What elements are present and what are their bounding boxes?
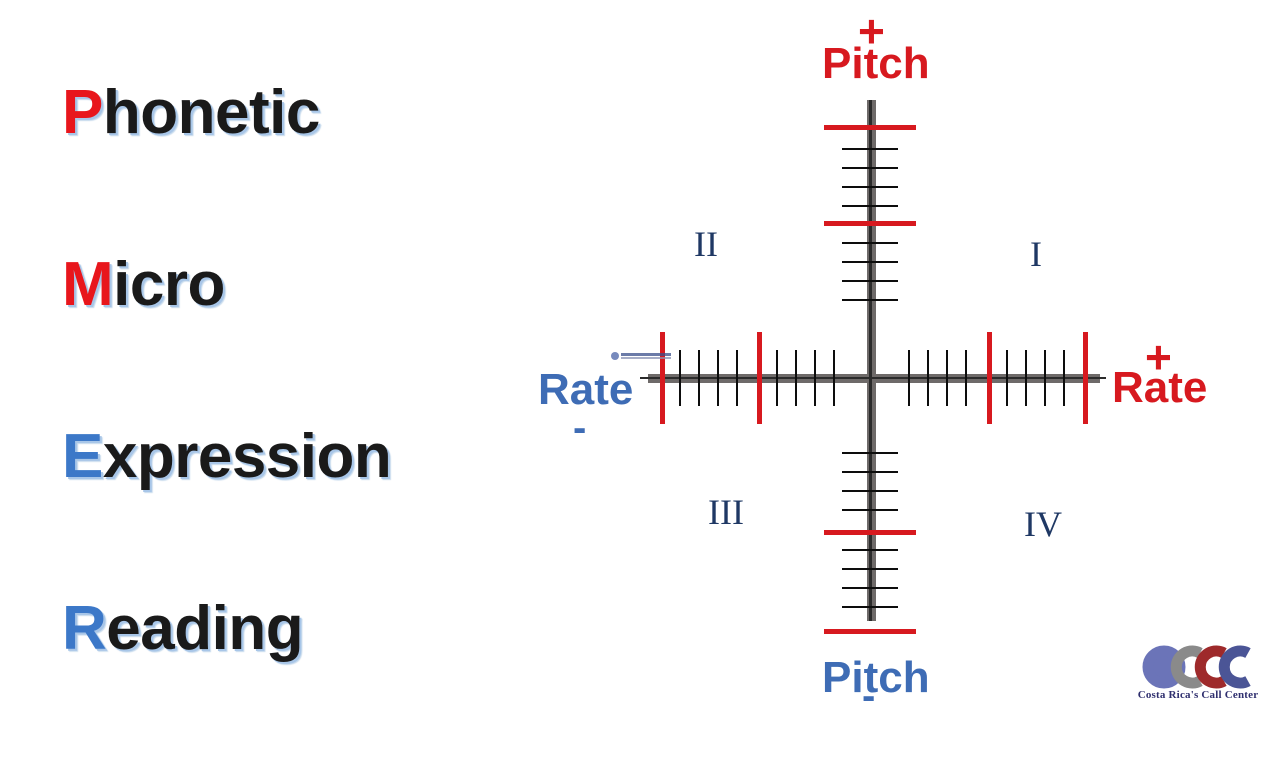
rate-minor-tick [908,350,910,406]
small-watermark-icon [611,349,671,363]
pitch-minor-tick [842,549,898,551]
acronym-item-phonetic: Phonetic [62,82,502,254]
pitch-minor-tick [842,606,898,608]
rate-major-tick [757,332,762,424]
rate-minor-tick [927,350,929,406]
pitch-major-tick [824,530,916,535]
rate-minor-tick [814,350,816,406]
rate-minor-tick [717,350,719,406]
rate-minor-tick [795,350,797,406]
horizontal-axis-line [640,377,1106,379]
brand-logo: Costa Rica's Call Center [1128,645,1268,711]
rate-minor-tick [679,350,681,406]
rate-minor-tick [833,350,835,406]
quadrant-label-iv: IV [1024,506,1062,542]
watermark-dot [611,352,619,360]
quadrant-label-i: I [1030,236,1042,272]
rate-negative-sign: - [573,408,586,448]
acronym-initial-p: P [62,78,103,147]
rate-minor-tick [1063,350,1065,406]
pitch-minor-tick [842,167,898,169]
rate-major-tick [660,332,665,424]
rate-minor-tick [698,350,700,406]
rate-minor-tick [736,350,738,406]
pitch-minor-tick [842,490,898,492]
rate-minor-tick [1044,350,1046,406]
watermark-lines [621,353,671,359]
rate-positive-label: Rate [1112,366,1207,410]
quadrant-label-iii: III [708,494,744,530]
acronym-initial-e: E [62,422,103,491]
pitch-minor-tick [842,568,898,570]
pitch-minor-tick [842,280,898,282]
pitch-minor-tick [842,509,898,511]
rate-major-tick [1083,332,1088,424]
pitch-minor-tick [842,299,898,301]
pitch-minor-tick [842,205,898,207]
pitch-minor-tick [842,148,898,150]
acronym-rest-expression: xpression [103,422,391,491]
acronym-initial-m: M [62,250,113,319]
rate-minor-tick [1006,350,1008,406]
pitch-minor-tick [842,471,898,473]
pitch-minor-tick [842,452,898,454]
pitch-major-tick [824,629,916,634]
pitch-minor-tick [842,261,898,263]
acronym-item-reading: Reading [62,598,502,770]
pitch-major-tick [824,125,916,130]
pitch-negative-sign: - [862,676,875,716]
pitch-major-tick [824,221,916,226]
pitch-minor-tick [842,242,898,244]
acronym-rest-phonetic: honetic [103,78,320,147]
pitch-positive-label: Pitch [822,42,930,86]
acronym-rest-reading: eading [106,594,303,663]
brand-logo-text: Costa Rica's Call Center [1128,689,1268,701]
acronym-rest-micro: icro [113,250,225,319]
rate-minor-tick [946,350,948,406]
acronym-list: Phonetic Micro Expression Reading [62,82,502,770]
rate-minor-tick [965,350,967,406]
rate-major-tick [987,332,992,424]
pitch-minor-tick [842,186,898,188]
quadrant-label-ii: II [694,226,718,262]
acronym-item-expression: Expression [62,426,502,598]
pitch-negative-label: Pitch [822,656,930,700]
acronym-initial-r: R [62,594,106,663]
pitch-minor-tick [842,587,898,589]
rate-minor-tick [1025,350,1027,406]
acronym-item-micro: Micro [62,254,502,426]
rate-minor-tick [776,350,778,406]
vertical-axis-line [869,100,872,621]
brand-logo-icon [1128,645,1268,693]
